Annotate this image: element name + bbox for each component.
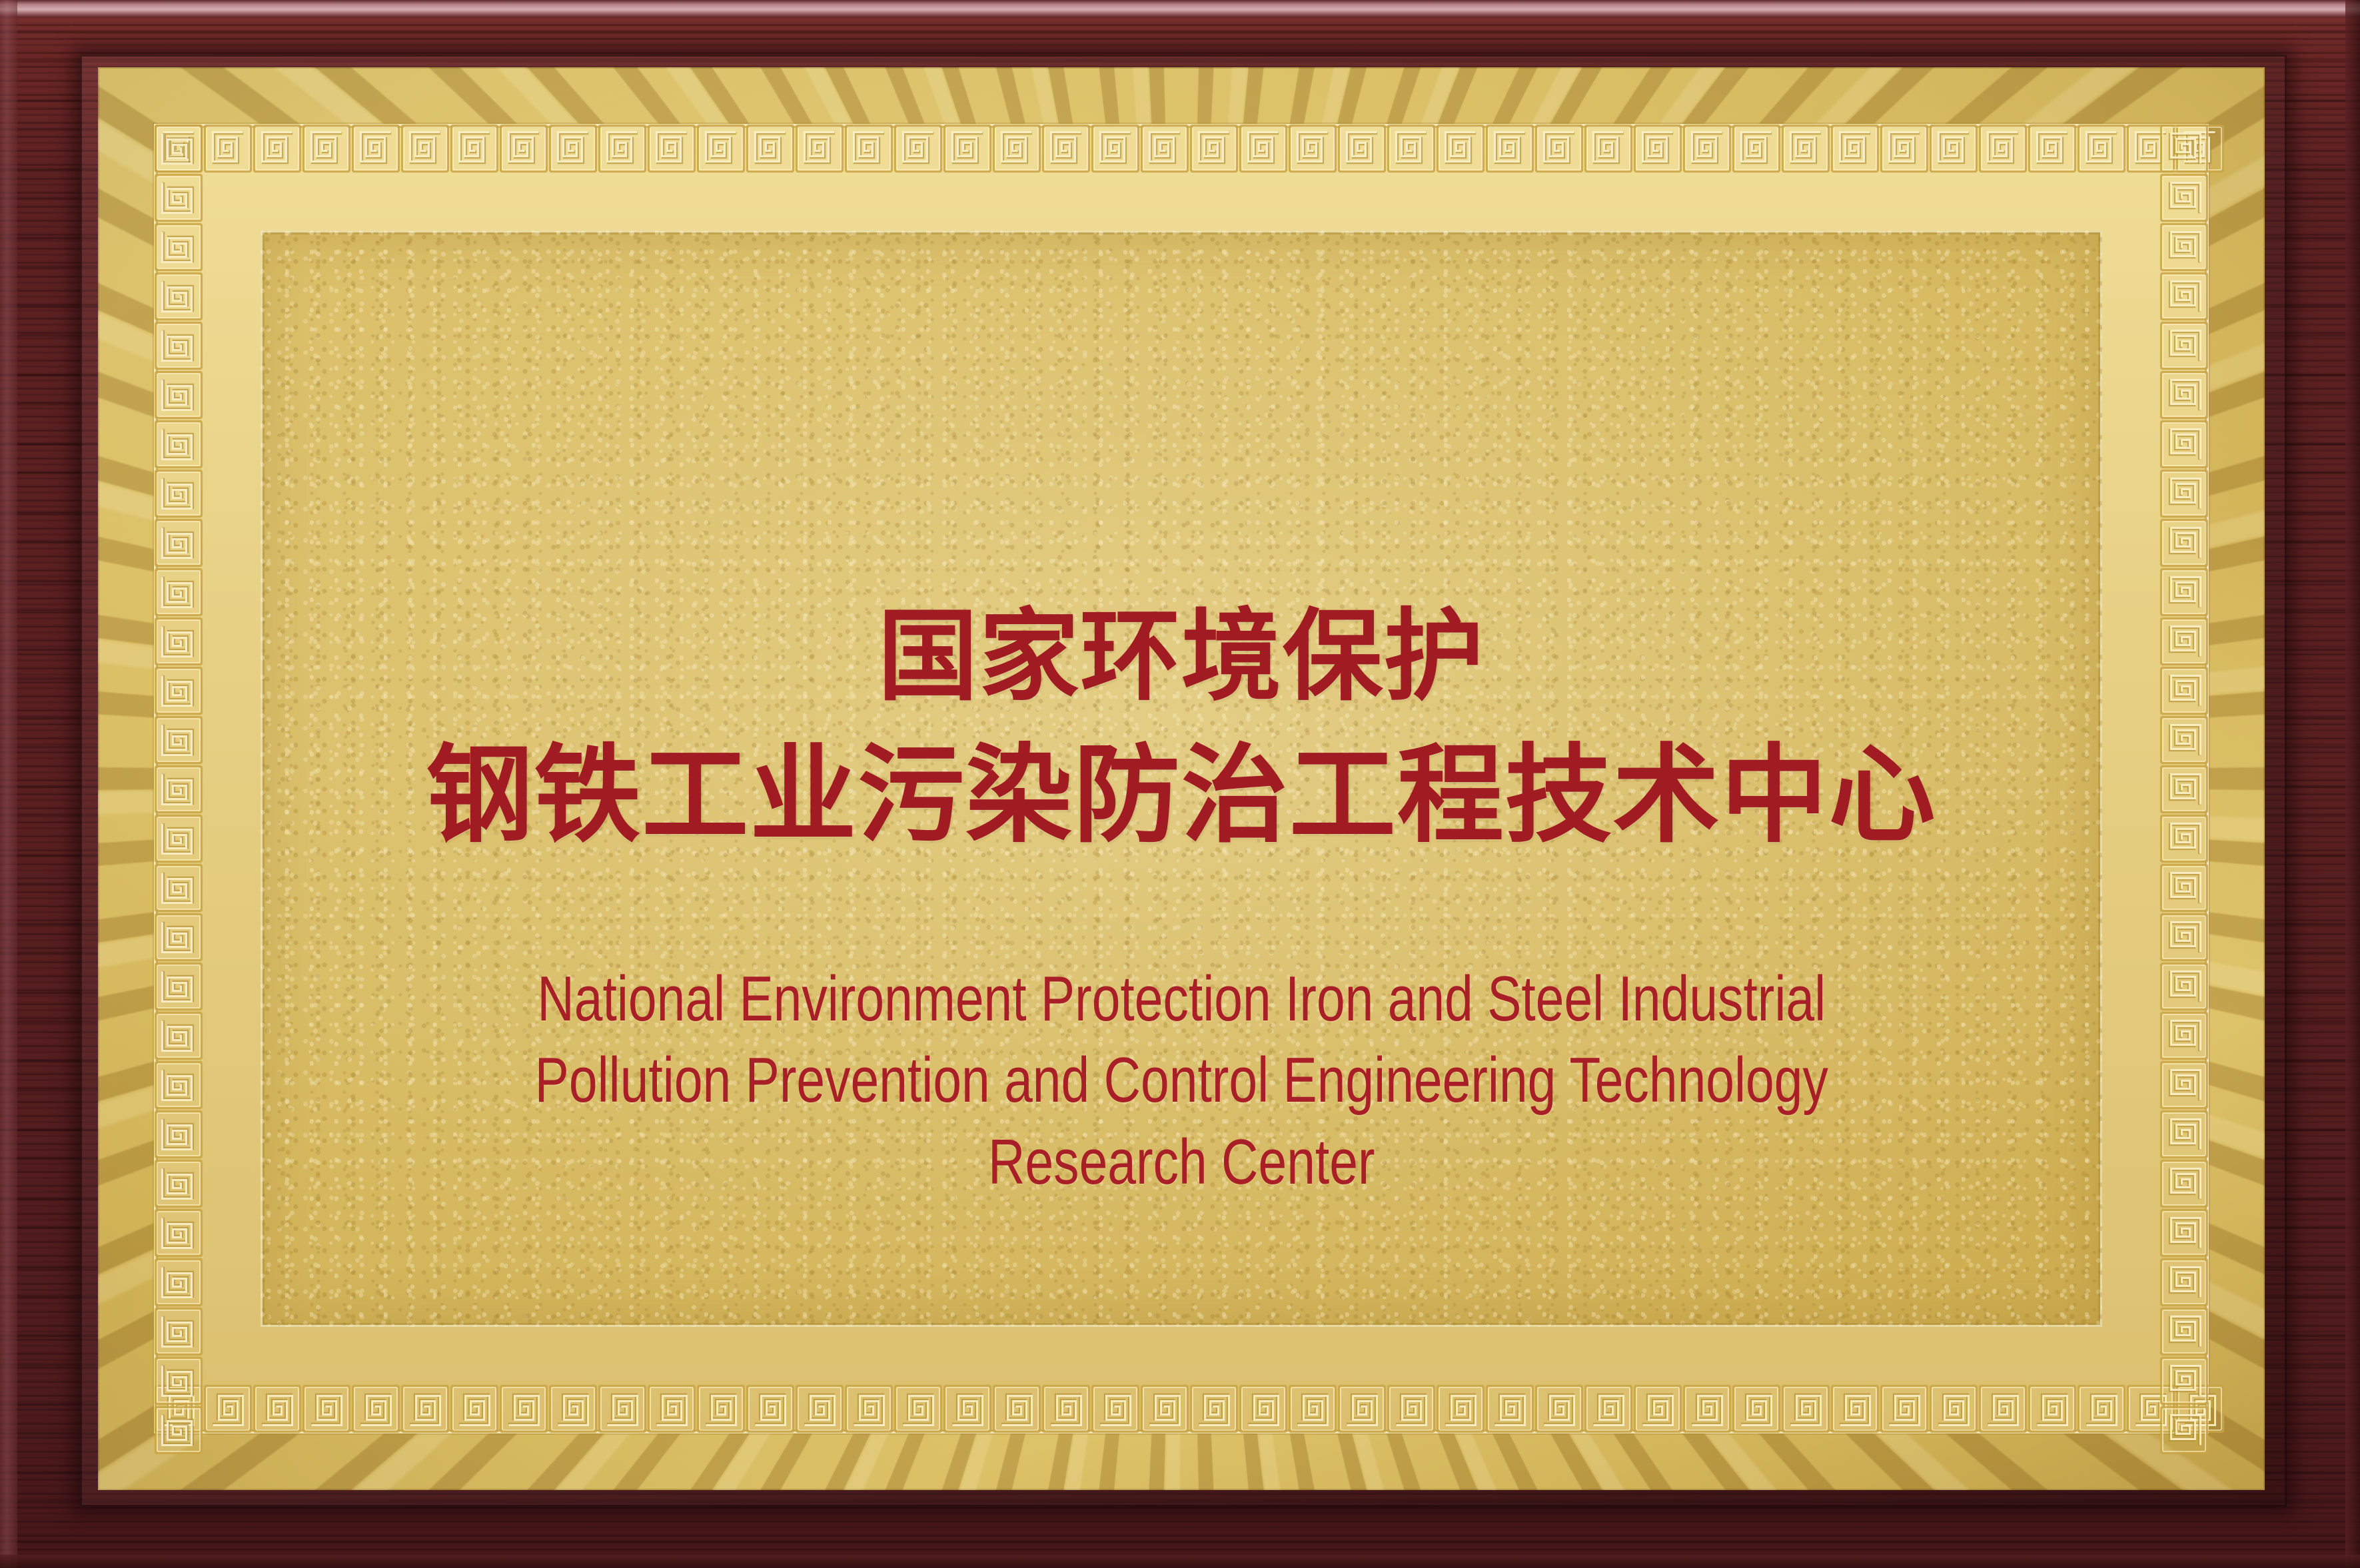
meander-tile <box>1584 124 1633 173</box>
meander-tile <box>154 913 203 962</box>
meander-tile <box>1781 124 1830 173</box>
meander-border-band: 国家环境保护 钢铁工业污染防治工程技术中心 National Environme… <box>154 124 2209 1433</box>
meander-tile <box>2159 1258 2209 1307</box>
meander-tile <box>2028 1384 2077 1433</box>
meander-tile <box>2159 1208 2209 1258</box>
meander-tile <box>1436 1384 1485 1433</box>
meander-tile <box>302 124 351 173</box>
meander-tile <box>1633 124 1682 173</box>
english-title-line-3: Research Center <box>534 1122 1828 1204</box>
meander-tile <box>844 124 893 173</box>
meander-tile <box>2159 765 2209 814</box>
meander-tile <box>696 1384 746 1433</box>
meander-tile <box>351 124 400 173</box>
meander-tile <box>598 1384 647 1433</box>
meander-tile <box>400 1384 450 1433</box>
meander-tile <box>2159 715 2209 765</box>
meander-tile <box>548 1384 598 1433</box>
meander-tile <box>2159 814 2209 863</box>
meander-tile <box>154 1159 203 1208</box>
meander-tile <box>154 321 203 370</box>
meander-tile <box>795 124 844 173</box>
meander-tile <box>1485 124 1534 173</box>
meander-tile <box>1189 1384 1239 1433</box>
meander-tile <box>2159 1405 2209 1455</box>
meander-tile <box>351 1384 400 1433</box>
meander-tile <box>1485 1384 1534 1433</box>
meander-tile <box>154 1307 203 1356</box>
meander-tile <box>2159 272 2209 321</box>
meander-tile <box>893 124 943 173</box>
meander-tile <box>154 1258 203 1307</box>
meander-tile <box>2159 370 2209 420</box>
meander-tile <box>154 518 203 568</box>
meander-tile <box>154 222 203 272</box>
meander-tile <box>154 1405 203 1455</box>
meander-tile <box>2159 469 2209 518</box>
meander-tile <box>253 1384 302 1433</box>
meander-tile <box>450 1384 499 1433</box>
meander-tile <box>2028 124 2077 173</box>
meander-tile <box>2159 1110 2209 1159</box>
meander-tile <box>2159 222 2209 272</box>
meander-tile <box>154 962 203 1011</box>
meander-tile <box>1682 1384 1732 1433</box>
meander-tile <box>893 1384 943 1433</box>
meander-tile <box>992 1384 1041 1433</box>
meander-tile <box>2159 1356 2209 1405</box>
meander-tile <box>1732 124 1781 173</box>
meander-tile <box>746 124 795 173</box>
plate-inner-field: 国家环境保护 钢铁工业污染防治工程技术中心 National Environme… <box>261 230 2102 1327</box>
meander-tile <box>2159 962 2209 1011</box>
chinese-title-line-2: 钢铁工业污染防治工程技术中心 <box>426 739 1937 852</box>
meander-tile <box>2159 321 2209 370</box>
meander-tile <box>154 124 203 173</box>
meander-row-left <box>154 124 203 1433</box>
meander-tile <box>2159 1060 2209 1110</box>
meander-tile <box>1337 1384 1387 1433</box>
meander-tile <box>2159 666 2209 715</box>
meander-tile <box>154 765 203 814</box>
meander-tile <box>1880 1384 1929 1433</box>
meander-tile <box>2077 1384 2126 1433</box>
meander-tile <box>1387 1384 1436 1433</box>
meander-tile <box>1436 124 1485 173</box>
meander-tile <box>2159 617 2209 666</box>
meander-tile <box>154 1356 203 1405</box>
meander-tile <box>992 124 1041 173</box>
meander-tile <box>2159 1159 2209 1208</box>
meander-tile <box>154 173 203 222</box>
meander-tile <box>154 617 203 666</box>
meander-row-bottom <box>154 1384 2209 1433</box>
meander-tile <box>154 666 203 715</box>
meander-tile <box>1140 1384 1189 1433</box>
plaque-content: 国家环境保护 钢铁工业污染防治工程技术中心 National Environme… <box>261 230 2102 1327</box>
meander-tile <box>1288 124 1337 173</box>
meander-tile <box>1534 124 1584 173</box>
meander-tile <box>2159 863 2209 913</box>
award-plaque: 国家环境保护 钢铁工业污染防治工程技术中心 National Environme… <box>0 0 2360 1568</box>
meander-tile <box>2077 124 2126 173</box>
frame-bevel-top <box>0 0 2360 17</box>
meander-tile <box>1041 1384 1091 1433</box>
meander-tile <box>2159 913 2209 962</box>
meander-tile <box>943 1384 992 1433</box>
meander-tile <box>548 124 598 173</box>
meander-tile <box>2159 1307 2209 1356</box>
meander-row-top <box>154 124 2209 173</box>
meander-tile <box>154 370 203 420</box>
meander-tile <box>154 814 203 863</box>
meander-tile <box>1337 124 1387 173</box>
meander-tile <box>154 469 203 518</box>
meander-tile <box>154 863 203 913</box>
meander-tile <box>1633 1384 1682 1433</box>
english-title-line-1: National Environment Protection Iron and… <box>534 959 1828 1040</box>
meander-tile <box>154 1060 203 1110</box>
gold-plate: 国家环境保护 钢铁工业污染防治工程技术中心 National Environme… <box>98 67 2265 1490</box>
meander-tile <box>1239 1384 1288 1433</box>
meander-tile <box>647 124 696 173</box>
meander-tile <box>154 715 203 765</box>
meander-tile <box>302 1384 351 1433</box>
english-title-block: National Environment Protection Iron and… <box>534 959 1828 1204</box>
meander-tile <box>154 568 203 617</box>
meander-tile <box>154 1110 203 1159</box>
meander-tile <box>795 1384 844 1433</box>
meander-row-right <box>2159 124 2209 1433</box>
meander-tile <box>1041 124 1091 173</box>
meander-tile <box>1091 1384 1140 1433</box>
meander-tile <box>154 272 203 321</box>
meander-tile <box>203 1384 253 1433</box>
meander-tile <box>1929 124 1978 173</box>
meander-tile <box>1880 124 1929 173</box>
chinese-title-line-1: 国家环境保护 <box>878 603 1485 709</box>
meander-tile <box>943 124 992 173</box>
frame-bevel-left <box>0 0 17 1568</box>
meander-tile <box>2159 568 2209 617</box>
meander-tile <box>1781 1384 1830 1433</box>
frame-bevel-bottom <box>0 1555 2360 1568</box>
meander-tile <box>1091 124 1140 173</box>
meander-tile <box>2159 1011 2209 1060</box>
meander-tile <box>499 1384 548 1433</box>
meander-tile <box>1732 1384 1781 1433</box>
meander-tile <box>1978 1384 2028 1433</box>
meander-tile <box>450 124 499 173</box>
meander-tile <box>253 124 302 173</box>
meander-tile <box>844 1384 893 1433</box>
meander-tile <box>1288 1384 1337 1433</box>
meander-tile <box>1189 124 1239 173</box>
meander-tile <box>1682 124 1732 173</box>
meander-tile <box>1387 124 1436 173</box>
meander-tile <box>696 124 746 173</box>
meander-tile <box>2159 173 2209 222</box>
meander-tile <box>154 1208 203 1258</box>
meander-tile <box>2159 518 2209 568</box>
meander-tile <box>746 1384 795 1433</box>
meander-tile <box>598 124 647 173</box>
meander-tile <box>400 124 450 173</box>
meander-tile <box>1830 1384 1880 1433</box>
meander-tile <box>1978 124 2028 173</box>
frame-bevel-right <box>2345 0 2360 1568</box>
meander-tile <box>1929 1384 1978 1433</box>
meander-tile <box>154 420 203 469</box>
meander-tile <box>647 1384 696 1433</box>
meander-tile <box>2159 124 2209 173</box>
meander-tile <box>2159 420 2209 469</box>
meander-tile <box>203 124 253 173</box>
meander-tile <box>1584 1384 1633 1433</box>
meander-tile <box>499 124 548 173</box>
english-title-line-2: Pollution Prevention and Control Enginee… <box>534 1040 1828 1122</box>
meander-tile <box>1830 124 1880 173</box>
meander-tile <box>1534 1384 1584 1433</box>
meander-tile <box>1239 124 1288 173</box>
meander-tile <box>154 1011 203 1060</box>
meander-tile <box>1140 124 1189 173</box>
